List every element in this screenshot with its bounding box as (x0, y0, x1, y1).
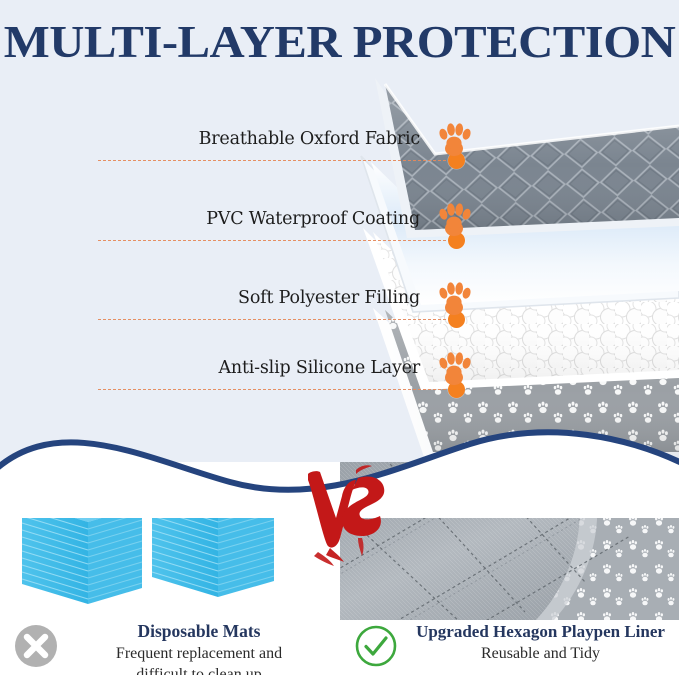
caption-playpen-liner: Upgraded Hexagon Playpen Liner Reusable … (340, 620, 679, 675)
disposable-mats-photo (0, 462, 340, 620)
feature-row-pvc-coating: PVC Waterproof Coating (0, 206, 480, 250)
paw-print-icon (434, 350, 474, 388)
comparison-panel: Disposable Mats Frequent replacement and… (0, 462, 679, 675)
feature-label: Soft Polyester Filling (238, 285, 420, 311)
feature-row-oxford-fabric: Breathable Oxford Fabric (0, 126, 480, 170)
paw-print-icon (434, 201, 474, 239)
feature-label: PVC Waterproof Coating (206, 206, 420, 232)
multi-layer-mat-cutaway (355, 60, 679, 460)
caption-disposable-mats: Disposable Mats Frequent replacement and… (0, 620, 340, 675)
versus-graphic (300, 456, 396, 576)
infographic-page: MULTI-LAYER PROTECTION (0, 0, 679, 675)
feature-label: Breathable Oxford Fabric (199, 126, 420, 152)
caption-subtitle-line1: Reusable and Tidy (402, 643, 679, 664)
feature-row-polyester-filling: Soft Polyester Filling (0, 285, 480, 329)
feature-label: Anti-slip Silicone Layer (218, 355, 420, 381)
paw-print-icon (434, 121, 474, 159)
mat-stack-1 (22, 486, 142, 604)
caption-subtitle-line2: difficult to clean up (58, 664, 340, 675)
caption-subtitle-line1: Frequent replacement and (58, 643, 340, 664)
mat-stack-2 (152, 479, 274, 597)
paw-print-icon (434, 280, 474, 318)
x-mark-icon (14, 624, 58, 668)
feature-row-silicone-layer: Anti-slip Silicone Layer (0, 355, 480, 399)
caption-title: Disposable Mats (58, 620, 340, 643)
top-panel: MULTI-LAYER PROTECTION (0, 0, 679, 480)
check-mark-icon (354, 624, 398, 668)
caption-title: Upgraded Hexagon Playpen Liner (402, 620, 679, 643)
